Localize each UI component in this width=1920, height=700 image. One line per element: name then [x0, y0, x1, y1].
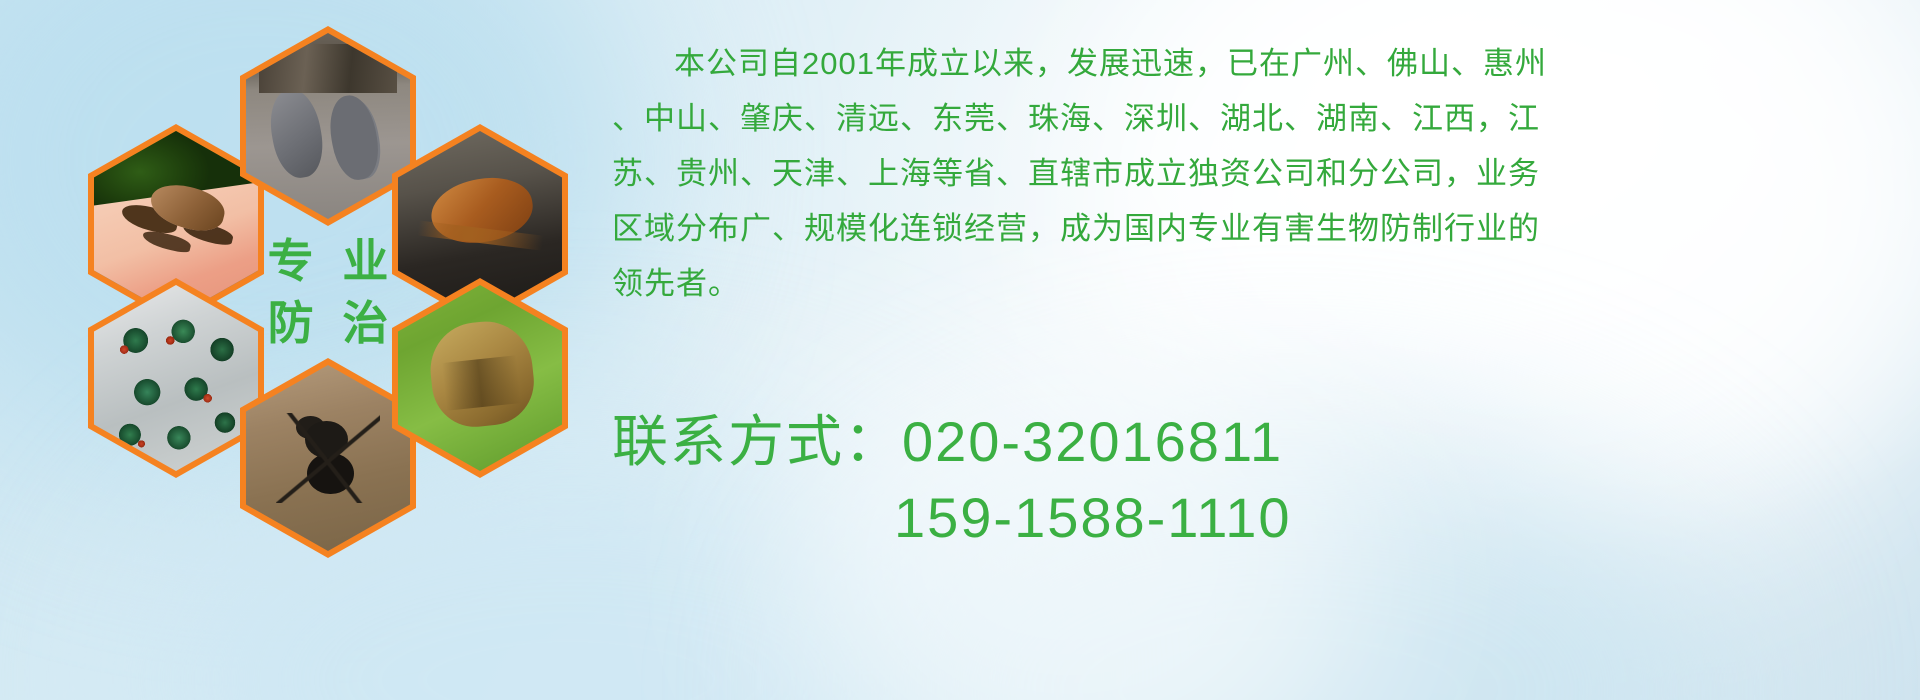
contact-phone-primary[interactable]: 联系方式：020-32016811	[612, 404, 1900, 480]
logo-slogan: 专 业 防 治	[240, 192, 416, 392]
intro-line-2: 、中山、肇庆、清远、东莞、珠海、深圳、湖北、湖南、江西，江	[612, 91, 1900, 146]
contact-phone-secondary[interactable]: 159-1588-1110	[612, 480, 1900, 556]
hex-photo-ant-frame	[246, 365, 410, 551]
hex-photo-flies	[88, 278, 264, 478]
logo-slogan-line-1: 专 业	[260, 238, 397, 284]
contact-info: 联系方式：020-32016811 159-1588-1110	[612, 404, 1900, 556]
ant-image	[246, 365, 410, 551]
hex-photo-stinkbug-frame	[398, 285, 562, 471]
logo-slogan-line-2: 防 治	[260, 300, 397, 346]
hexagon-photo-cluster: 专 业 防 治	[88, 6, 588, 566]
intro-line-1: 本公司自2001年成立以来，发展迅速，已在广州、佛山、惠州	[612, 36, 1900, 91]
hex-photo-flies-frame	[94, 285, 258, 471]
stinkbug-image	[398, 285, 562, 471]
flies-image	[94, 285, 258, 471]
hex-photo-stinkbug	[392, 278, 568, 478]
intro-line-4: 区域分布广、规模化连锁经营，成为国内专业有害生物防制行业的	[612, 201, 1900, 256]
company-intro-paragraph: 本公司自2001年成立以来，发展迅速，已在广州、佛山、惠州 、中山、肇庆、清远、…	[612, 36, 1900, 311]
promo-banner: 专 业 防 治 本公司自2001年成立以来，发展迅速，已在广州、佛山、惠州 、中…	[0, 0, 1920, 700]
intro-line-3: 苏、贵州、天津、上海等省、直辖市成立独资公司和分公司，业务	[612, 146, 1900, 201]
intro-line-5: 领先者。	[612, 256, 1900, 311]
